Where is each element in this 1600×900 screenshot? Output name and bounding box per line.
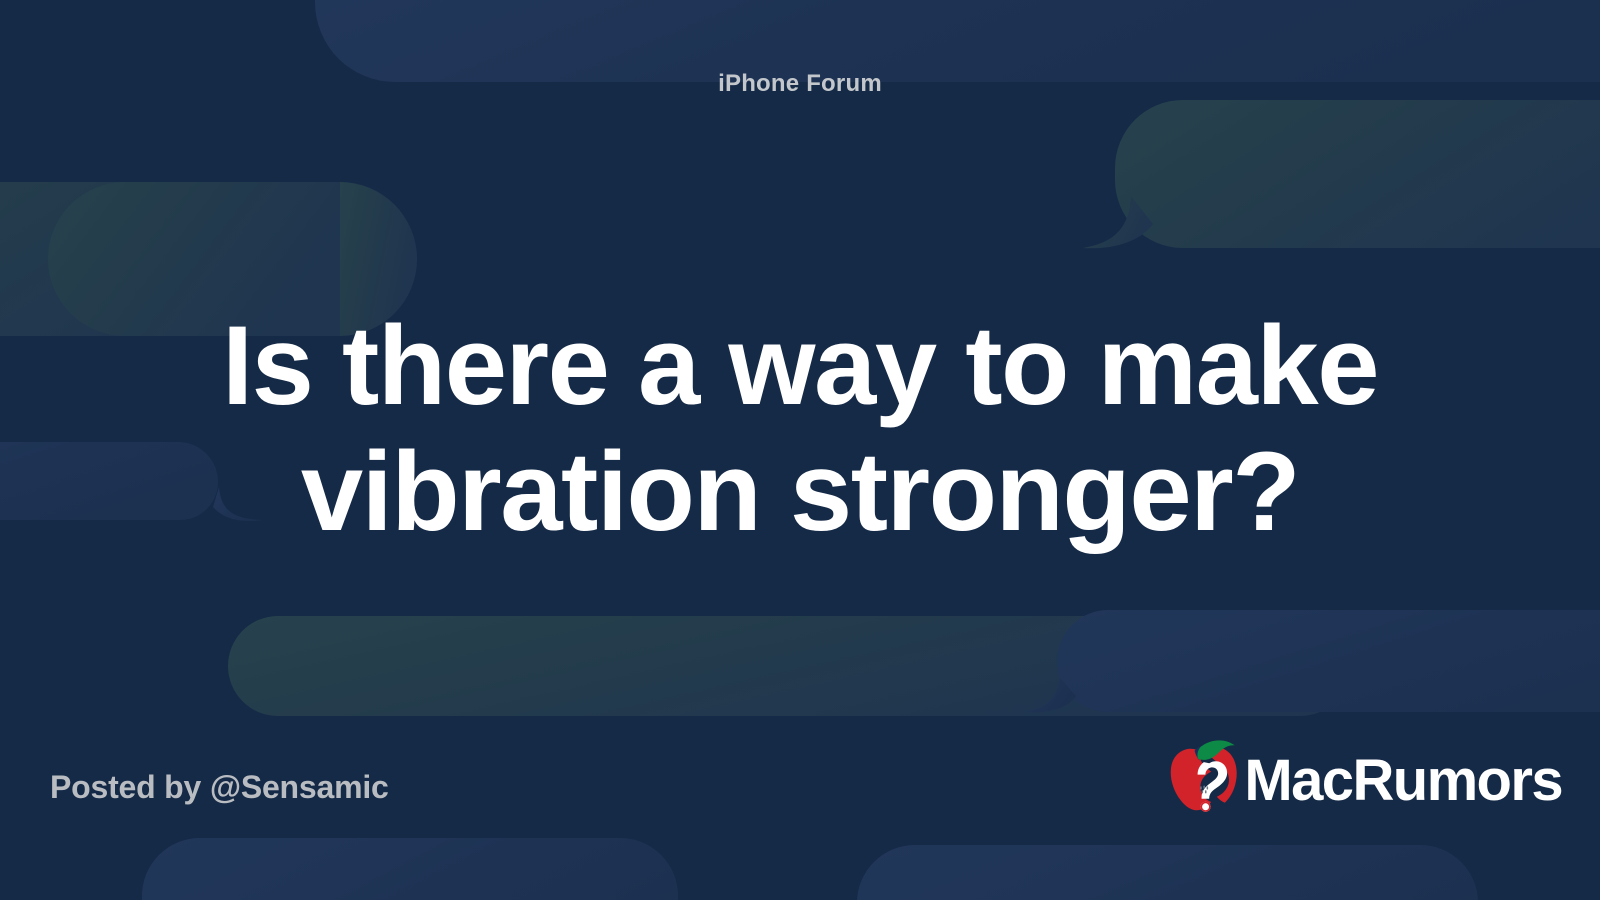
apple-question-mark-icon [1166,736,1240,822]
bubble-top-right-tail [1083,100,1600,248]
bubble-bottom-left [142,838,678,900]
forum-share-card: iPhone Forum Is there a way to make vibr… [0,0,1600,900]
bubble-bottom-right [857,845,1478,900]
bubble-center-teal [228,616,1350,716]
bubble-right-navy [1024,610,1600,712]
posted-by-byline: Posted by @Sensamic [50,769,389,806]
macrumors-logo[interactable]: MacRumors [1166,736,1562,822]
macrumors-wordmark: MacRumors [1244,752,1562,810]
page-title: Is there a way to make vibration stronge… [180,303,1420,555]
forum-label: iPhone Forum [0,70,1600,98]
